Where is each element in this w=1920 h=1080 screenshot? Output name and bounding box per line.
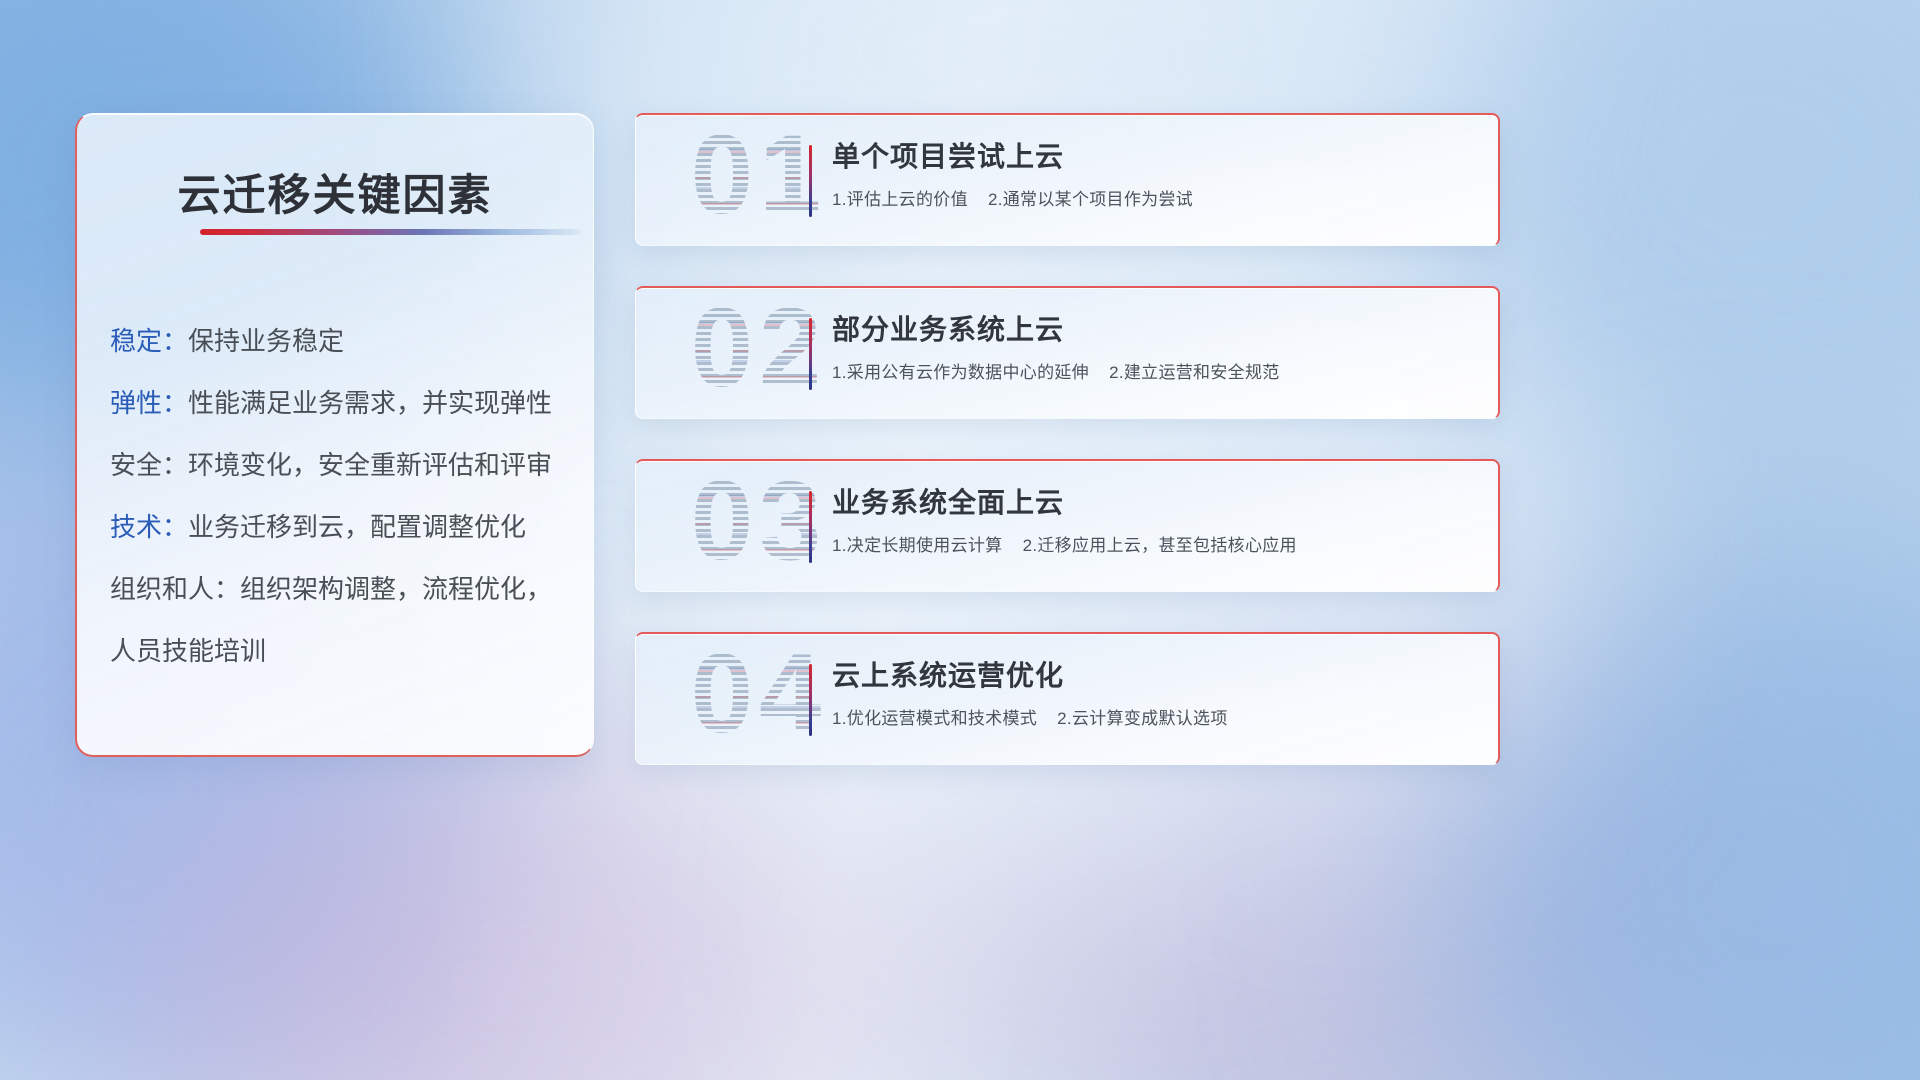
step-description: 1.采用公有云作为数据中心的延伸 2.建立运营和安全规范 [832, 360, 1480, 386]
step-description: 1.优化运营模式和技术模式 2.云计算变成默认选项 [832, 706, 1480, 732]
list-item: 稳定：保持业务稳定 [110, 310, 573, 372]
list-item: 弹性：性能满足业务需求，并实现弹性 [110, 372, 573, 434]
step-accent-divider [809, 664, 812, 736]
factor-text: 保持业务稳定 [188, 326, 344, 356]
factor-list: 稳定：保持业务稳定 弹性：性能满足业务需求，并实现弹性 安全：环境变化，安全重新… [110, 310, 573, 682]
step-title: 云上系统运营优化 [832, 656, 1480, 696]
step-title: 单个项目尝试上云 [832, 137, 1480, 177]
step-body: 业务系统全面上云 1.决定长期使用云计算 2.迁移应用上云，甚至包括核心应用 [832, 483, 1480, 559]
factor-key: 组织和人： [110, 574, 240, 604]
factor-text: 组织架构调整，流程优化， [240, 574, 552, 604]
step-body: 部分业务系统上云 1.采用公有云作为数据中心的延伸 2.建立运营和安全规范 [832, 310, 1480, 386]
list-item: 人员技能培训 [110, 620, 573, 682]
step-card[interactable]: 01 01 单个项目尝试上云 1.评估上云的价值 2.通常以某个项目作为尝试 [635, 113, 1500, 246]
factor-text: 性能满足业务需求，并实现弹性 [188, 388, 552, 418]
list-item: 安全：环境变化，安全重新评估和评审 [110, 434, 573, 496]
step-description: 1.决定长期使用云计算 2.迁移应用上云，甚至包括核心应用 [832, 533, 1480, 559]
factor-text: 人员技能培训 [110, 636, 266, 666]
factor-key: 安全： [110, 450, 188, 480]
step-accent-divider [809, 491, 812, 563]
page-title: 云迁移关键因素 [77, 161, 593, 223]
step-card[interactable]: 04 04 云上系统运营优化 1.优化运营模式和技术模式 2.云计算变成默认选项 [635, 632, 1500, 765]
list-item: 技术：业务迁移到云，配置调整优化 [110, 496, 573, 558]
step-title: 部分业务系统上云 [832, 310, 1480, 350]
key-factors-panel: 云迁移关键因素 稳定：保持业务稳定 弹性：性能满足业务需求，并实现弹性 安全：环… [75, 113, 594, 757]
step-body: 云上系统运营优化 1.优化运营模式和技术模式 2.云计算变成默认选项 [832, 656, 1480, 732]
factor-text: 环境变化，安全重新评估和评审 [188, 450, 552, 480]
step-accent-divider [809, 145, 812, 217]
step-card[interactable]: 02 02 部分业务系统上云 1.采用公有云作为数据中心的延伸 2.建立运营和安… [635, 286, 1500, 419]
factor-key: 稳定： [110, 326, 188, 356]
factor-key: 技术： [110, 512, 188, 542]
factor-key: 弹性： [110, 388, 188, 418]
title-underline-rule [200, 229, 582, 235]
step-body: 单个项目尝试上云 1.评估上云的价值 2.通常以某个项目作为尝试 [832, 137, 1480, 213]
slide-canvas: 云迁移关键因素 稳定：保持业务稳定 弹性：性能满足业务需求，并实现弹性 安全：环… [0, 0, 1920, 1080]
step-card[interactable]: 03 03 业务系统全面上云 1.决定长期使用云计算 2.迁移应用上云，甚至包括… [635, 459, 1500, 592]
list-item: 组织和人：组织架构调整，流程优化， [110, 558, 573, 620]
step-description: 1.评估上云的价值 2.通常以某个项目作为尝试 [832, 187, 1480, 213]
factor-text: 业务迁移到云，配置调整优化 [188, 512, 526, 542]
step-accent-divider [809, 318, 812, 390]
step-title: 业务系统全面上云 [832, 483, 1480, 523]
